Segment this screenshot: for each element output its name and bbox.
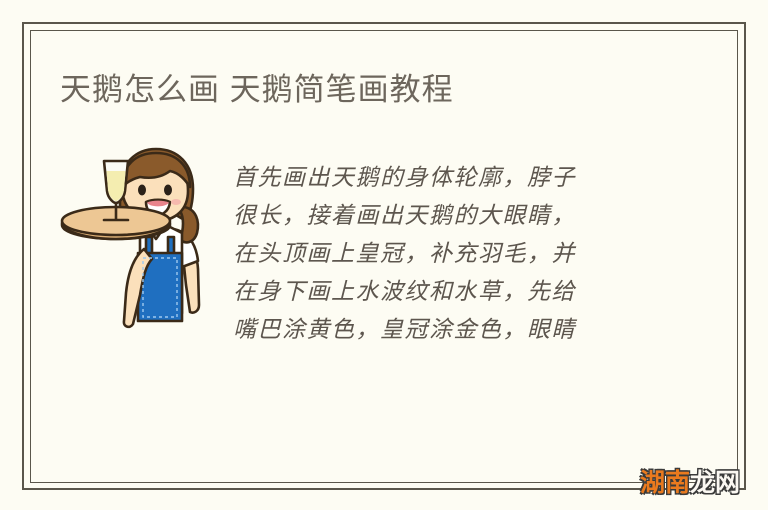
body-line: 首先画出天鹅的身体轮廓，脖子 (233, 159, 665, 197)
page-title: 天鹅怎么画 天鹅简笔画教程 (60, 70, 454, 110)
waitress-with-tray-illustration (60, 145, 208, 335)
article-page: 天鹅怎么画 天鹅简笔画教程 (0, 0, 768, 510)
body-line: 在身下画上水波纹和水草，先给 (233, 273, 665, 311)
watermark-text-secondary: 龙网 (690, 463, 740, 499)
watermark-text-primary: 湖南 (640, 463, 690, 499)
body-line: 很长，接着画出天鹅的大眼睛， (233, 197, 665, 235)
article-content: 首先画出天鹅的身体轮廓，脖子 很长，接着画出天鹅的大眼睛， 在头顶画上皇冠，补充… (60, 145, 670, 355)
body-line: 嘴巴涂黄色，皇冠涂金色，眼睛 (233, 311, 665, 349)
body-line: 在头顶画上皇冠，补充羽毛，并 (233, 235, 665, 273)
site-watermark: 湖南 龙网 (636, 464, 744, 498)
article-body: 首先画出天鹅的身体轮廓，脖子 很长，接着画出天鹅的大眼睛， 在头顶画上皇冠，补充… (233, 159, 665, 349)
